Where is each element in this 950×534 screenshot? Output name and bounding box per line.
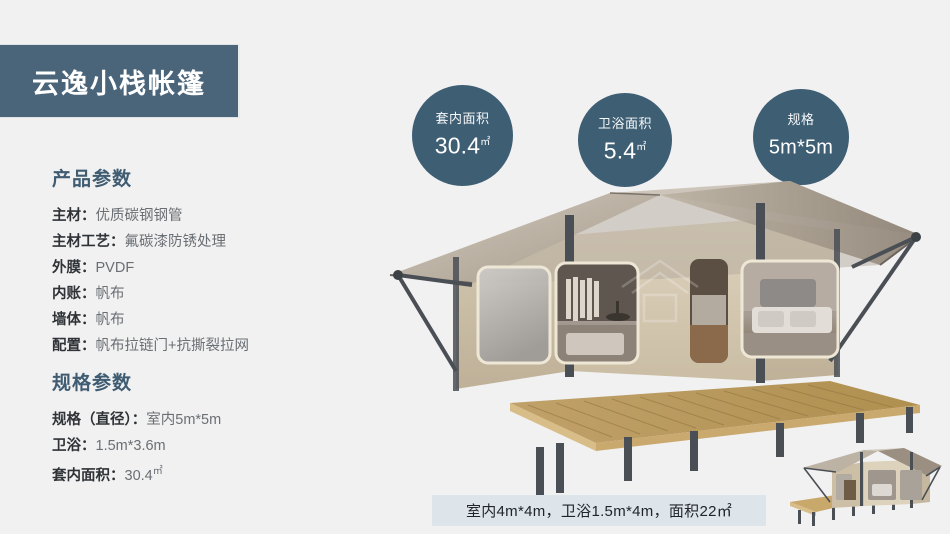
stat-badge-value: 30.4㎡: [435, 129, 491, 160]
param-row: 外膜：PVDF: [52, 255, 249, 281]
param-row: 套内面积：30.4㎡: [52, 459, 221, 489]
param-row: 墙体：帆布: [52, 307, 249, 333]
param-value: 室内5m*5m: [146, 412, 221, 428]
param-value: 氟碳漆防锈处理: [125, 234, 227, 250]
tent-thumbnail: [772, 444, 948, 532]
param-unit: ㎡: [153, 466, 163, 477]
tent-door-opening: [690, 259, 728, 363]
stat-badge-value: 5m*5m: [769, 130, 833, 162]
product-parameters-section: 产品参数 主材：优质碳钢钢管 主材工艺：氟碳漆防锈处理 外膜：PVDF 内账：帆…: [52, 164, 249, 359]
tent-roof: [390, 181, 920, 283]
section-heading-product: 产品参数: [52, 164, 249, 191]
param-row: 主材：优质碳钢钢管: [52, 203, 249, 229]
specification-parameters-section: 规格参数 规格（直径）：室内5m*5m 卫浴：1.5m*3.6m 套内面积：30…: [52, 368, 221, 489]
stat-badge-label: 套内面积: [435, 111, 489, 127]
param-label: 配置：: [52, 338, 96, 354]
stat-badge-label: 规格: [787, 112, 814, 128]
param-label: 主材：: [52, 208, 96, 224]
param-value: PVDF: [96, 260, 135, 276]
param-value: 帆布拉链门+抗撕裂拉网: [96, 338, 249, 354]
param-row: 内账：帆布: [52, 281, 249, 307]
section-heading-spec: 规格参数: [52, 368, 221, 395]
tent-window-left: [478, 267, 550, 363]
param-row: 配置：帆布拉链门+抗撕裂拉网: [52, 333, 249, 359]
param-label: 套内面积：: [52, 468, 125, 484]
stat-badge-value: 5.4㎡: [604, 134, 647, 165]
param-label: 外膜：: [52, 260, 96, 276]
stat-badge-label: 卫浴面积: [598, 116, 652, 132]
param-label: 卫浴：: [52, 438, 96, 454]
param-row: 卫浴：1.5m*3.6m: [52, 433, 221, 459]
stat-badge-dimensions: 规格 5m*5m: [753, 89, 849, 185]
page-title: 云逸小栈帐篷: [32, 62, 206, 101]
stat-badge-unit: ㎡: [636, 142, 646, 153]
stat-badge-bathroom-area: 卫浴面积 5.4㎡: [578, 93, 672, 187]
param-value: 1.5m*3.6m: [96, 438, 166, 454]
param-label: 内账：: [52, 286, 96, 302]
product-spec-page: 云逸小栈帐篷 产品参数 主材：优质碳钢钢管 主材工艺：氟碳漆防锈处理 外膜：PV…: [0, 0, 950, 534]
param-value: 优质碳钢钢管: [96, 208, 183, 224]
param-value: 帆布: [96, 286, 125, 302]
stat-badge-unit: ㎡: [480, 137, 490, 148]
param-value: 帆布: [96, 312, 125, 328]
title-banner: 云逸小栈帐篷: [0, 44, 240, 118]
param-row: 规格（直径）：室内5m*5m: [52, 407, 221, 433]
caption-band: 室内4m*4m，卫浴1.5m*4m，面积22㎡: [432, 495, 766, 526]
caption-text: 室内4m*4m，卫浴1.5m*4m，面积22㎡: [466, 500, 732, 521]
param-label: 墙体：: [52, 312, 96, 328]
tent-window-bedroom: [742, 261, 838, 357]
param-row: 主材工艺：氟碳漆防锈处理: [52, 229, 249, 255]
param-value: 30.4: [125, 468, 153, 484]
tent-window-wardrobe: [556, 263, 638, 363]
param-label: 规格（直径）：: [52, 412, 146, 428]
stat-badge-interior-area: 套内面积 30.4㎡: [412, 85, 513, 186]
param-label: 主材工艺：: [52, 234, 125, 250]
